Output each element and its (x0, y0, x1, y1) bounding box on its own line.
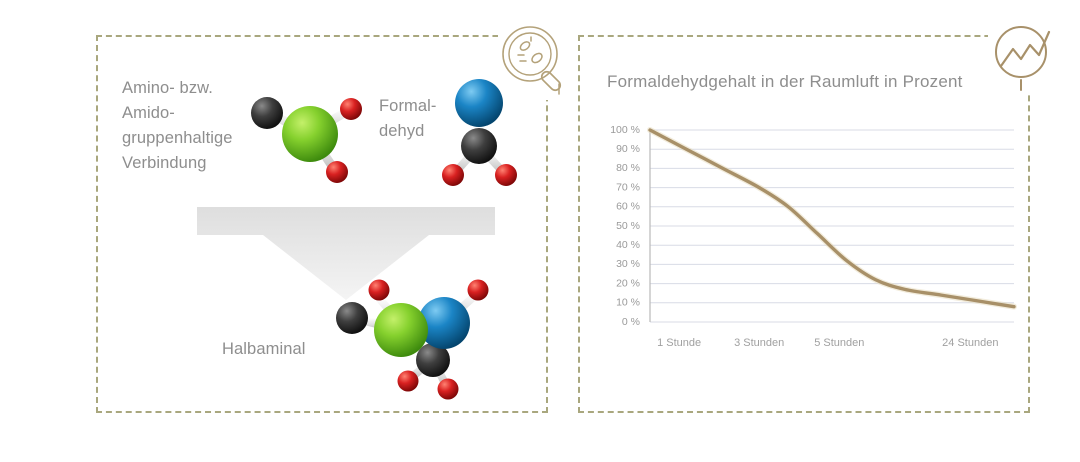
svg-text:90 %: 90 % (616, 143, 640, 155)
amino-compound-molecule (238, 78, 372, 190)
svg-text:100 %: 100 % (610, 124, 640, 136)
infographic-root: Amino- bzw. Amido- gruppenhaltige Verbin… (0, 0, 1080, 462)
trend-chart-circle-icon (988, 22, 1060, 94)
svg-text:20 %: 20 % (616, 277, 640, 289)
svg-text:0 %: 0 % (622, 316, 640, 328)
svg-text:80 %: 80 % (616, 162, 640, 174)
svg-text:30 %: 30 % (616, 258, 640, 270)
svg-text:60 %: 60 % (616, 201, 640, 213)
halbaminal-molecule (326, 268, 510, 406)
svg-text:10 %: 10 % (616, 297, 640, 309)
svg-text:24 Stunden: 24 Stunden (942, 337, 998, 349)
svg-text:1 Stunde: 1 Stunde (657, 337, 701, 349)
svg-text:50 %: 50 % (616, 220, 640, 232)
chart-title: Formaldehydgehalt in der Raumluft in Pro… (607, 72, 963, 92)
svg-text:40 %: 40 % (616, 239, 640, 251)
svg-text:70 %: 70 % (616, 181, 640, 193)
svg-text:5 Stunden: 5 Stunden (814, 337, 864, 349)
svg-text:3 Stunden: 3 Stunden (734, 337, 784, 349)
formaldehyde-molecule (434, 68, 526, 192)
line-chart: 100 %90 %80 %70 %60 %50 %40 %30 %20 %10 … (598, 118, 1018, 368)
